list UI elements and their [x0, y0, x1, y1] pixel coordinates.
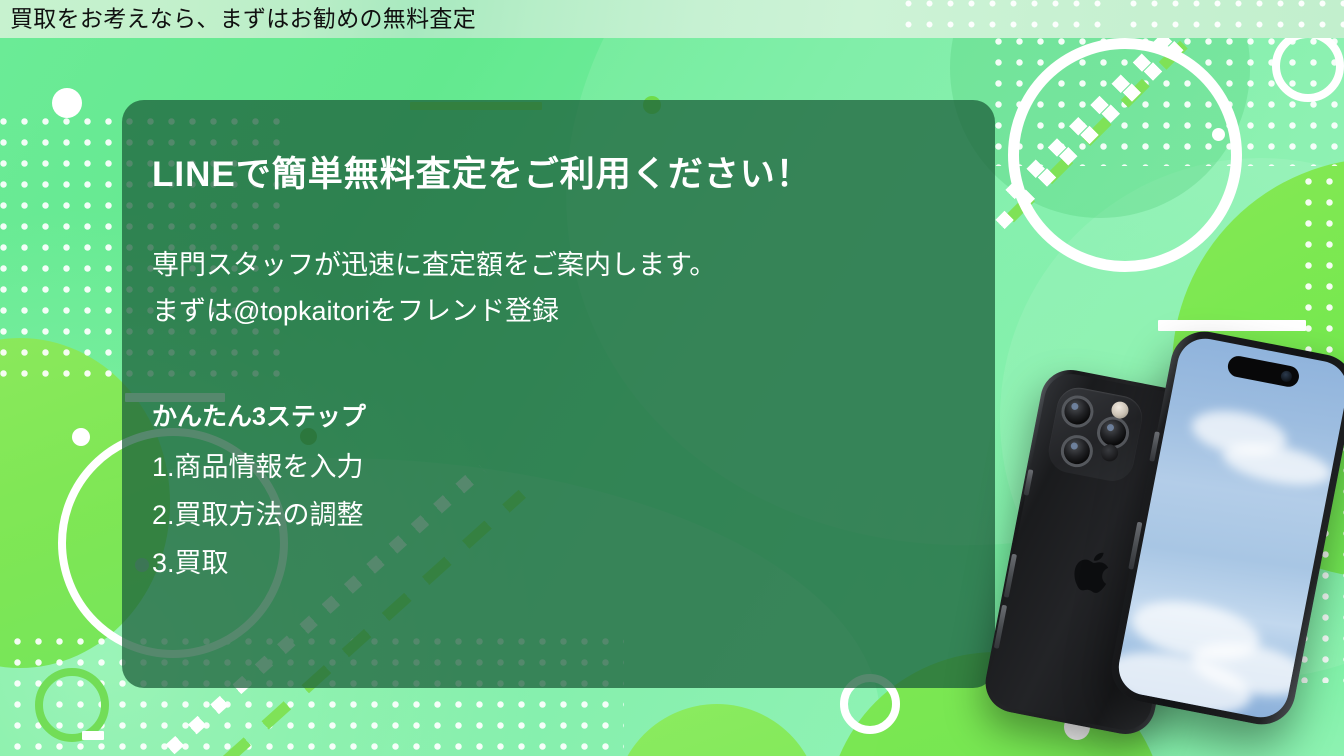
phone-rear-volume-up — [1004, 554, 1017, 598]
steps-list: 1.商品情報を入力 2.買取方法の調整 3.買取 — [152, 443, 995, 587]
content-panel: LINEで簡単無料査定をご利用ください！ 専門スタッフが迅速に査定額をご案内しま… — [122, 100, 995, 688]
accent-bar-white-right — [1158, 320, 1306, 331]
step-item-1: 1.商品情報を入力 — [152, 443, 995, 491]
camera-lens-1 — [1059, 393, 1097, 431]
circle-ring-top-right — [1008, 38, 1242, 272]
phone-product-image — [1004, 336, 1344, 756]
top-bar: 買取をお考えなら、まずはお勧めの無料査定 — [0, 0, 1344, 38]
accent-bar-bottom-left — [82, 731, 104, 740]
hero-background: LINEで簡単無料査定をご利用ください！ 専門スタッフが迅速に査定額をご案内しま… — [0, 38, 1344, 756]
phone-rear-volume-down — [994, 605, 1007, 649]
dot-mid-white — [1212, 128, 1225, 141]
dot-left-white — [72, 428, 90, 446]
apple-logo-icon — [1068, 542, 1121, 601]
dynamic-island-icon — [1226, 354, 1301, 388]
step-item-3: 3.買取 — [152, 539, 995, 587]
dot-top-left — [52, 88, 82, 118]
panel-description: 専門スタッフが迅速に査定額をご案内します。 まずは@topkaitoriをフレン… — [152, 242, 995, 335]
panel-line-2: まずは@topkaitoriをフレンド登録 — [152, 288, 995, 334]
camera-lens-3 — [1058, 432, 1096, 470]
panel-heading: LINEで簡単無料査定をご利用ください！ — [152, 154, 995, 196]
topbar-title: 買取をお考えなら、まずはお勧めの無料査定 — [10, 8, 476, 31]
panel-line-1: 専門スタッフが迅速に査定額をご案内します。 — [152, 242, 995, 288]
steps-title: かんたん3ステップ — [152, 397, 995, 433]
triple-camera-icon — [1045, 384, 1146, 485]
step-item-2: 2.買取方法の調整 — [152, 491, 995, 539]
promo-banner: 買取をお考えなら、まずはお勧めの無料査定 — [0, 0, 1344, 756]
front-camera-icon — [1280, 369, 1293, 382]
topbar-dot-grid — [905, 0, 1105, 38]
phone-rear-mute-switch — [1024, 469, 1034, 495]
topbar-dot-grid-right — [1130, 0, 1344, 38]
